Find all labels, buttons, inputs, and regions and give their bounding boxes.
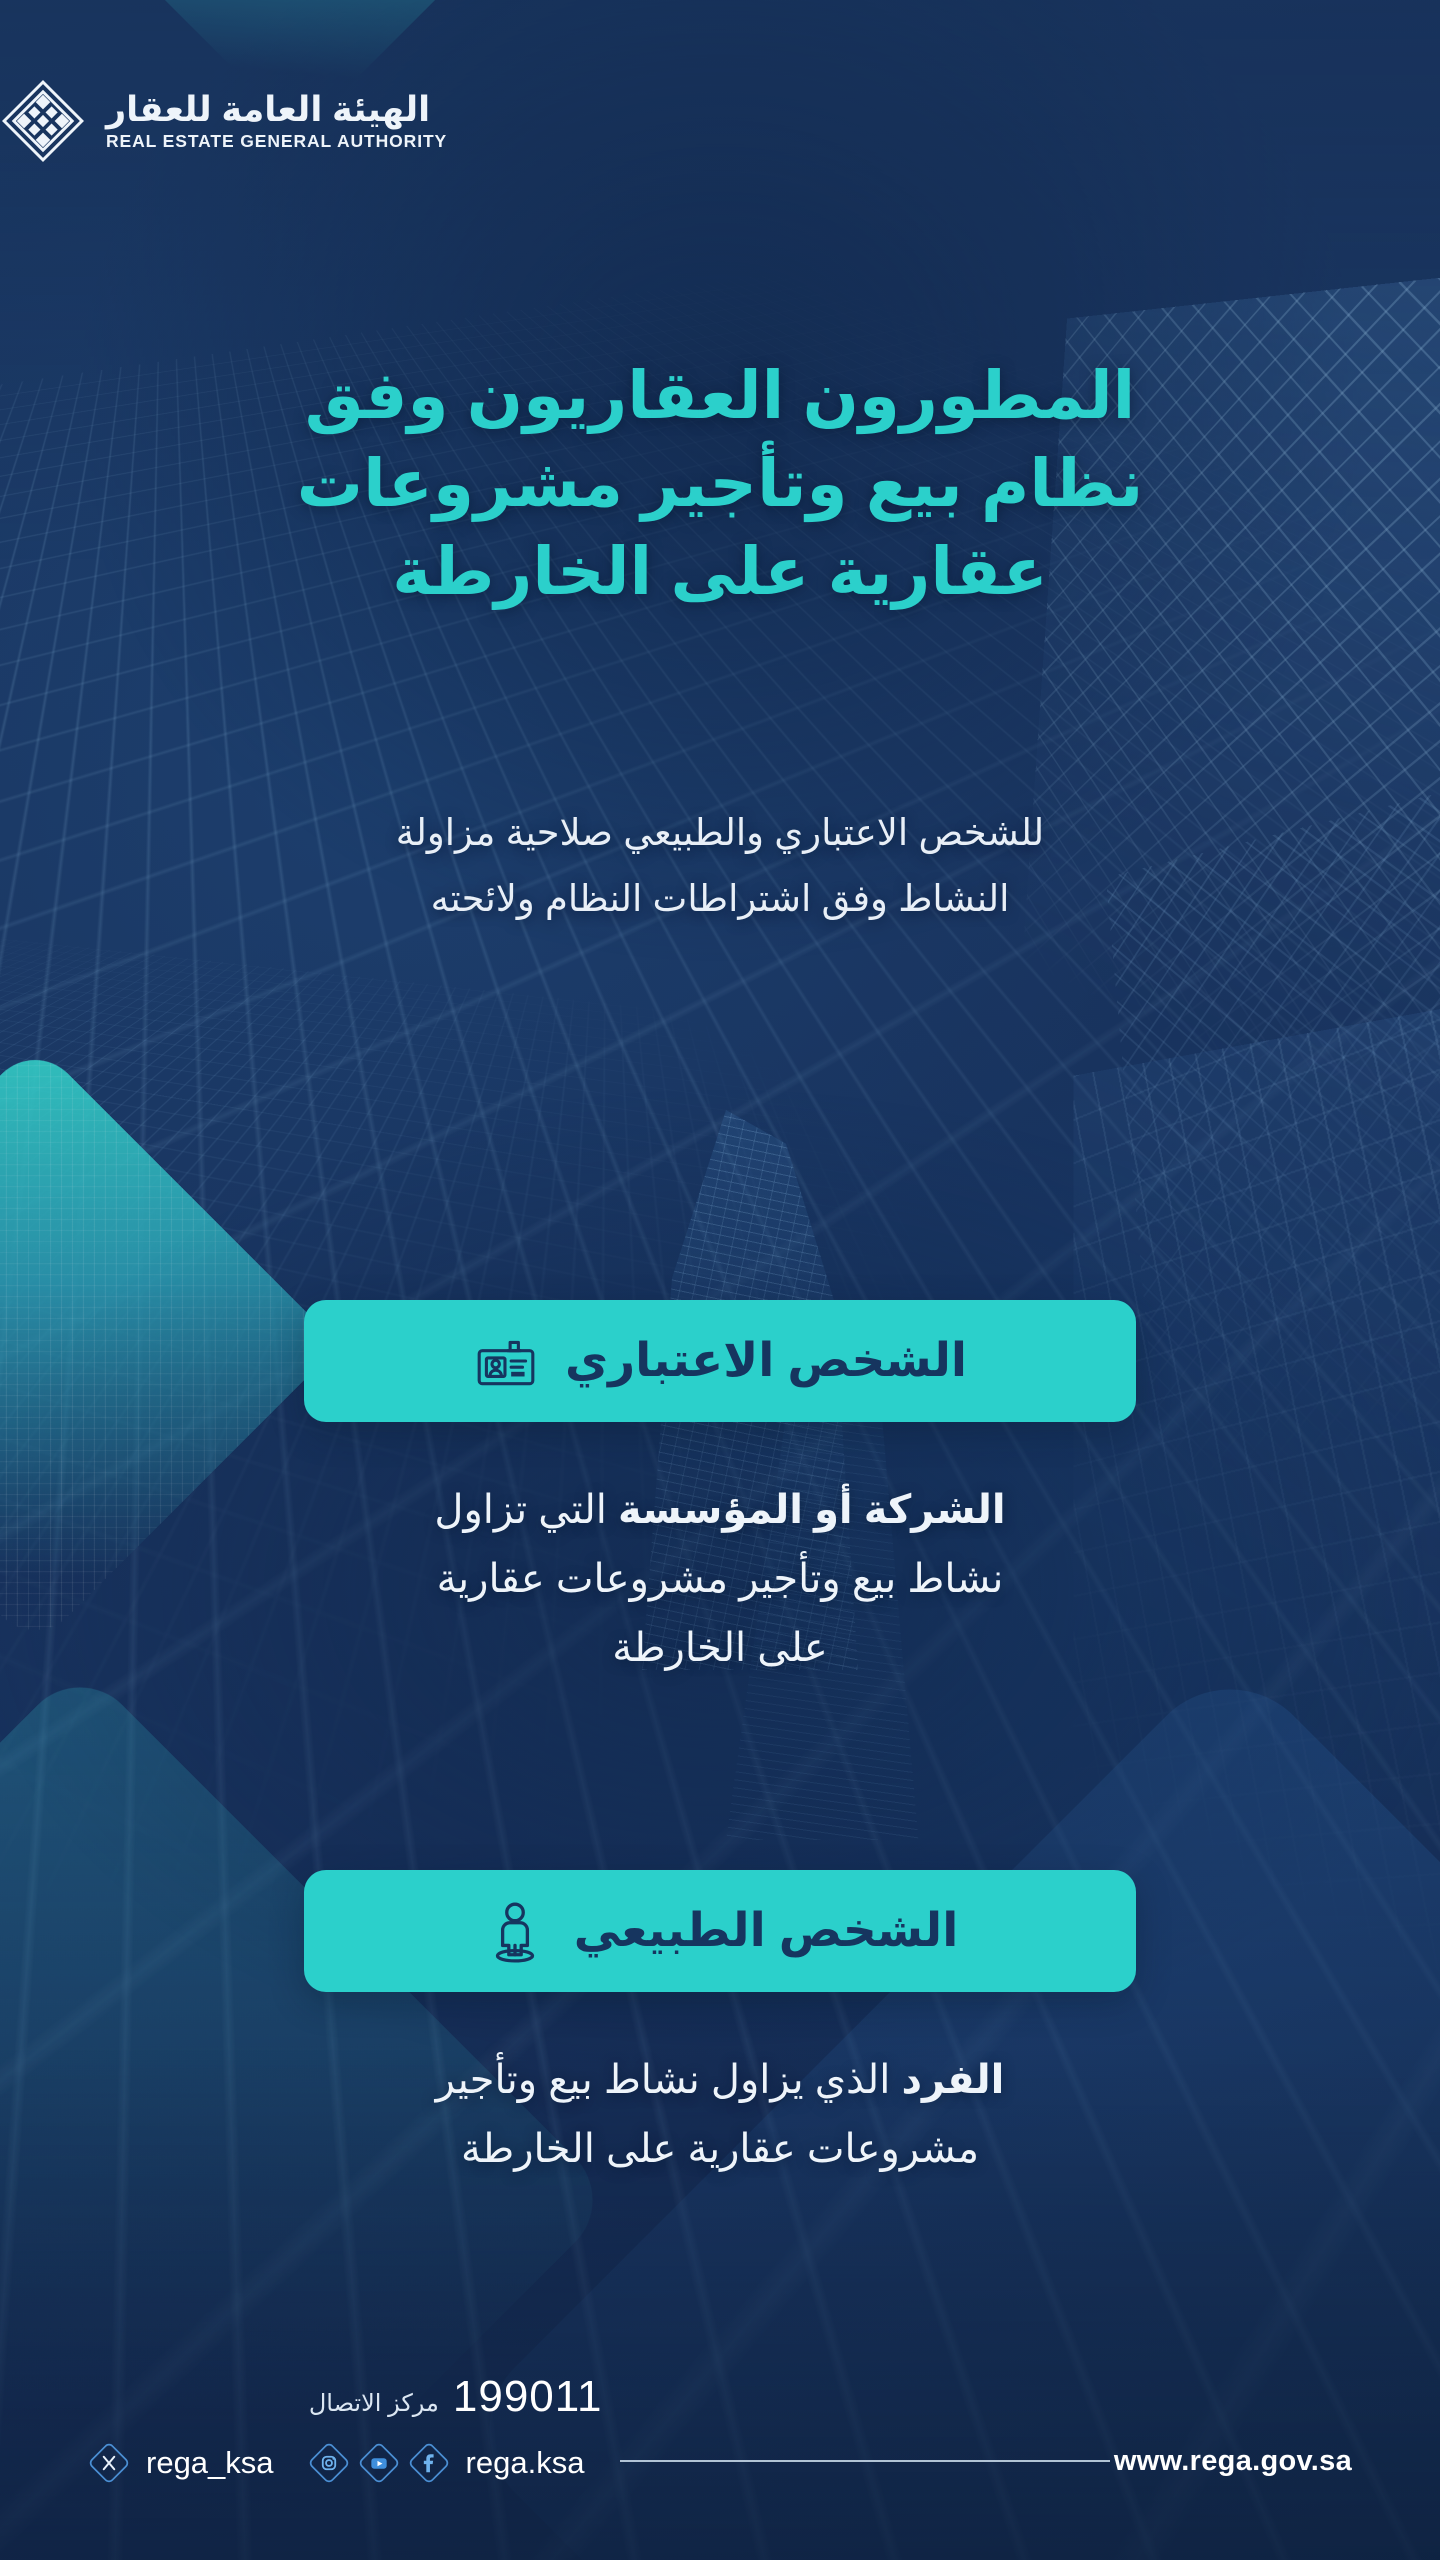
- footer: 199011 مركز الاتصال: [0, 2336, 1440, 2486]
- body-line-1: الشركة أو المؤسسة التي تزاول: [270, 1476, 1170, 1545]
- section-natural-person-body: الفرد الذي يزاول نشاط بيع وتأجير مشروعات…: [270, 2046, 1170, 2184]
- body-line-2: مشروعات عقارية على الخارطة: [270, 2115, 1170, 2184]
- header: الهيئة العامة للعقار REAL ESTATE GENERAL…: [0, 78, 1368, 164]
- id-badge-icon: [473, 1328, 539, 1394]
- section-legal-person: الشخص الاعتباري: [0, 1300, 1440, 1682]
- social-handle-secondary[interactable]: rega_ksa: [146, 2445, 274, 2481]
- poster-content: الهيئة العامة للعقار REAL ESTATE GENERAL…: [0, 0, 1440, 2560]
- social-group-secondary: rega_ksa: [86, 2440, 292, 2486]
- x-twitter-icon[interactable]: [86, 2440, 132, 2486]
- subtitle: للشخص الاعتباري والطبيعي صلاحية مزاولة ا…: [150, 800, 1290, 932]
- person-standing-icon: [482, 1898, 548, 1964]
- body-lead-rest: الذي يزاول نشاط بيع وتأجير: [436, 2058, 902, 2102]
- section-legal-person-body: الشركة أو المؤسسة التي تزاول نشاط بيع وت…: [270, 1476, 1170, 1682]
- facebook-icon[interactable]: [406, 2440, 452, 2486]
- body-line-3: على الخارطة: [270, 1614, 1170, 1683]
- pill-legal-person-label: الشخص الاعتباري: [565, 1336, 967, 1387]
- body-bold-lead: الشركة أو المؤسسة: [618, 1488, 1006, 1532]
- call-center: 199011 مركز الاتصال: [86, 2372, 602, 2422]
- instagram-icon[interactable]: [306, 2440, 352, 2486]
- youtube-icon[interactable]: [356, 2440, 402, 2486]
- subtitle-line-1: للشخص الاعتباري والطبيعي صلاحية مزاولة: [150, 800, 1290, 866]
- pill-legal-person[interactable]: الشخص الاعتباري: [304, 1300, 1136, 1422]
- headline-line-1: المطورون العقاريون وفق: [118, 352, 1322, 440]
- social-handle-primary[interactable]: rega.ksa: [466, 2445, 585, 2481]
- social-group-primary: rega.ksa: [306, 2440, 603, 2486]
- logo-english-name: REAL ESTATE GENERAL AUTHORITY: [106, 133, 447, 151]
- rega-logo: الهيئة العامة للعقار REAL ESTATE GENERAL…: [0, 78, 447, 164]
- body-line-1: الفرد الذي يزاول نشاط بيع وتأجير: [270, 2046, 1170, 2115]
- rega-diamond-emblem-icon: [0, 78, 86, 164]
- body-line-2: نشاط بيع وتأجير مشروعات عقارية: [270, 1545, 1170, 1614]
- pill-natural-person[interactable]: الشخص الطبيعي: [304, 1870, 1136, 1992]
- pill-natural-person-label: الشخص الطبيعي: [574, 1906, 959, 1957]
- logo-wordmark: الهيئة العامة للعقار REAL ESTATE GENERAL…: [106, 92, 447, 151]
- call-center-label: مركز الاتصال: [309, 2389, 439, 2418]
- headline: المطورون العقاريون وفق نظام بيع وتأجير م…: [118, 352, 1322, 615]
- call-center-number[interactable]: 199011: [453, 2372, 603, 2422]
- subtitle-line-2: النشاط وفق اشتراطات النظام ولائحته: [150, 866, 1290, 932]
- headline-line-2: نظام بيع وتأجير مشروعات: [118, 440, 1322, 528]
- body-lead-rest: التي تزاول: [434, 1488, 618, 1532]
- footer-contact-block: 199011 مركز الاتصال: [86, 2372, 602, 2486]
- social-links: rega.ksa rega_ksa: [86, 2440, 602, 2486]
- footer-website[interactable]: www.rega.gov.sa: [1114, 2445, 1352, 2478]
- footer-divider: [620, 2460, 1110, 2462]
- logo-arabic-name: الهيئة العامة للعقار: [106, 92, 430, 127]
- section-natural-person: الشخص الطبيعي الفرد الذي يزاول نشاط بيع …: [0, 1870, 1440, 2184]
- headline-line-3: عقارية على الخارطة: [118, 528, 1322, 616]
- poster-root: الهيئة العامة للعقار REAL ESTATE GENERAL…: [0, 0, 1440, 2560]
- body-bold-lead: الفرد: [901, 2058, 1004, 2102]
